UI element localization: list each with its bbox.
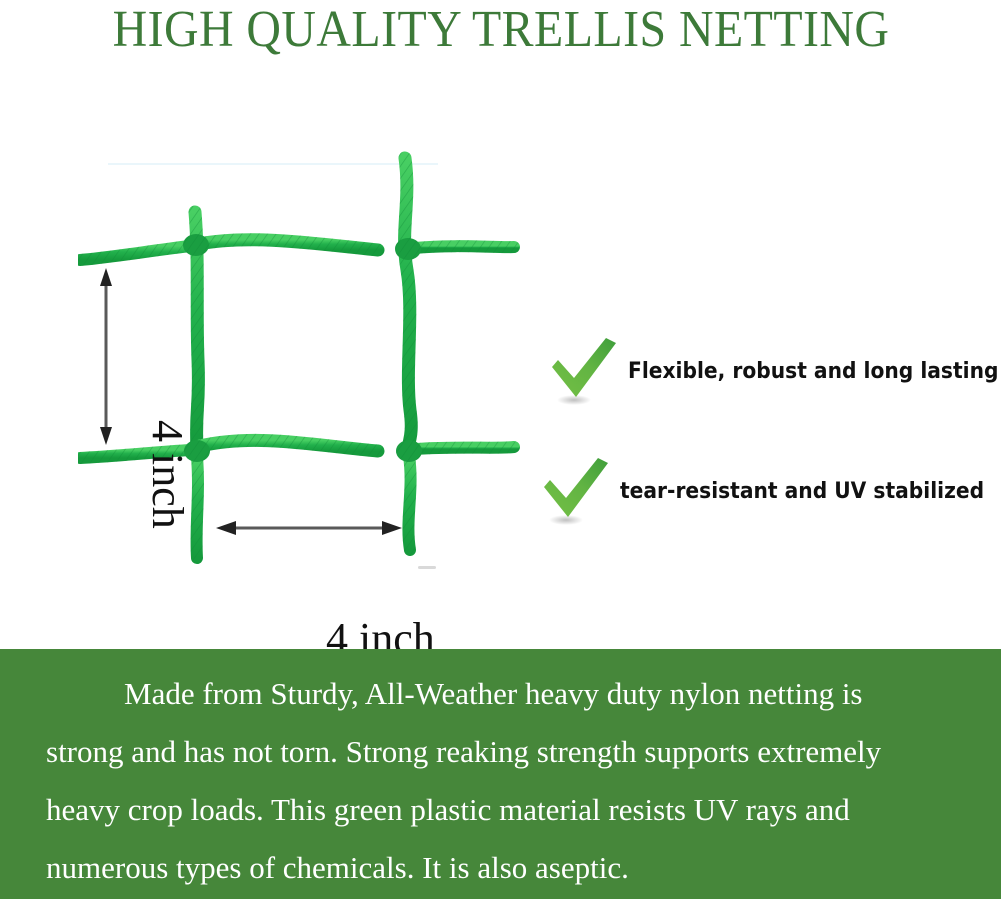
feature-label: Flexible, robust and long lasting [628,359,998,385]
description-text: Made from Sturdy, All-Weather heavy duty… [0,649,1001,897]
netting-knots [183,234,422,462]
netting-photo: 4 inch 4 inch [78,150,540,582]
description-line: heavy crop loads. This green plastic mat… [46,781,955,839]
green-check-icon [548,334,624,410]
scan-artifact [418,566,436,569]
description-line: Made from Sturdy, All-Weather heavy duty… [46,665,955,723]
feature-label: tear-resistant and UV stabilized [620,479,984,505]
dimension-label-vertical: 4 inch [144,420,190,529]
title-bar: HIGH QUALITY TRELLIS NETTING [0,0,1001,62]
feature-item: Flexible, robust and long lasting [548,334,1001,410]
description-line: strong and has not torn. Strong reaking … [46,723,955,781]
green-check-icon [540,454,616,530]
feature-item: tear-resistant and UV stabilized [540,454,1001,530]
dimension-arrow-vertical [100,268,112,445]
description-line: numerous types of chemicals. It is also … [46,839,955,897]
description-panel: Made from Sturdy, All-Weather heavy duty… [0,649,1001,899]
product-marketing-image: HIGH QUALITY TRELLIS NETTING [0,0,1001,899]
dimension-arrow-horizontal [216,521,402,535]
page-title: HIGH QUALITY TRELLIS NETTING [112,2,889,58]
